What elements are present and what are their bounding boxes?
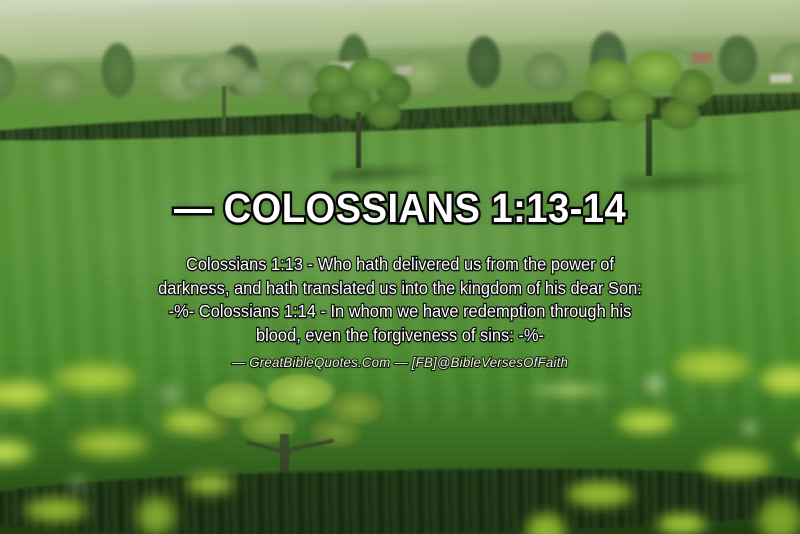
verse-line: -%- Colossians 1:14 - In whom we have re…: [90, 300, 710, 324]
quote-card: — COLOSSIANS 1:13-14 Colossians 1:13 - W…: [0, 0, 800, 534]
verse-body: Colossians 1:13 - Who hath delivered us …: [90, 253, 710, 347]
verse-reference-title: — COLOSSIANS 1:13-14: [174, 188, 626, 229]
verse-line: Colossians 1:13 - Who hath delivered us …: [90, 253, 710, 277]
verse-line: blood, even the forgiveness of sins: -%-: [90, 324, 710, 348]
verse-line: darkness, and hath translated us into th…: [90, 277, 710, 301]
text-overlay: — COLOSSIANS 1:13-14 Colossians 1:13 - W…: [0, 0, 800, 534]
attribution-credit: — GreatBibleQuotes.Com — [FB]@BibleVerse…: [232, 353, 568, 371]
